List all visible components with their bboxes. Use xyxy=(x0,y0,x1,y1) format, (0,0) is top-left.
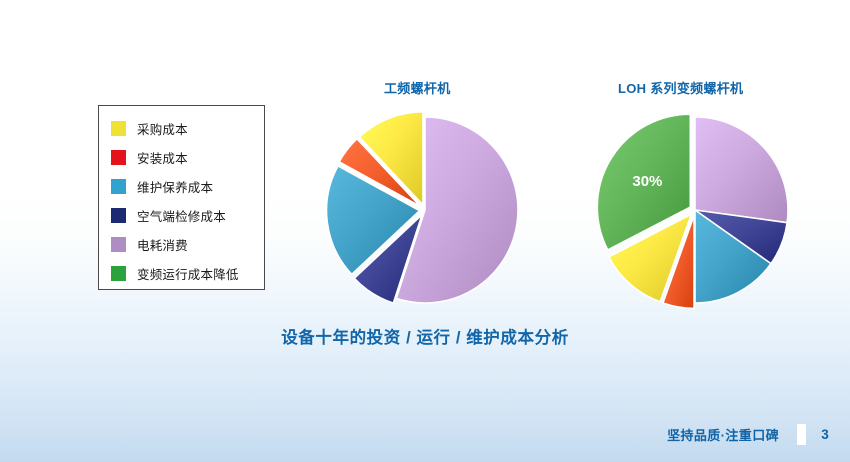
legend-swatch-icon xyxy=(111,237,126,252)
pie-slice xyxy=(695,117,788,223)
legend-swatch-icon xyxy=(111,179,126,194)
legend-item-5: 变频运行成本降低 xyxy=(111,259,264,288)
pie-chart-left xyxy=(318,103,532,317)
slide-canvas: 采购成本 安装成本 维护保养成本 空气端检修成本 电耗消费 变频运行成本降低 工… xyxy=(0,0,850,462)
legend-box: 采购成本 安装成本 维护保养成本 空气端检修成本 电耗消费 变频运行成本降低 xyxy=(98,105,265,290)
footer: 坚持品质·注重口碑 3 xyxy=(667,423,830,445)
legend-item-1: 安装成本 xyxy=(111,143,264,172)
legend-swatch-icon xyxy=(111,208,126,223)
legend-item-label: 空气端检修成本 xyxy=(137,206,226,225)
footer-divider xyxy=(797,424,806,445)
chart-title-left: 工频螺杆机 xyxy=(384,78,451,97)
legend-item-label: 维护保养成本 xyxy=(137,177,213,196)
footer-page-number: 3 xyxy=(820,427,830,442)
chart-title-right: LOH 系列变频螺杆机 xyxy=(618,78,743,97)
legend-swatch-icon xyxy=(111,150,126,165)
footer-slogan: 坚持品质·注重口碑 xyxy=(667,425,779,444)
legend-item-4: 电耗消费 xyxy=(111,230,264,259)
legend-item-label: 电耗消费 xyxy=(137,235,188,254)
legend-item-2: 维护保养成本 xyxy=(111,172,264,201)
legend-item-label: 安装成本 xyxy=(137,148,188,167)
pie-slice-data-label: 30% xyxy=(632,173,662,190)
legend-swatch-icon xyxy=(111,121,126,136)
legend-item-label: 变频运行成本降低 xyxy=(137,264,239,283)
legend-item-label: 采购成本 xyxy=(137,119,188,138)
legend-swatch-icon xyxy=(111,266,126,281)
legend-item-3: 空气端检修成本 xyxy=(111,201,264,230)
pie-chart-right: 30% xyxy=(588,103,802,317)
legend-item-0: 采购成本 xyxy=(111,114,264,143)
page-title: 设备十年的投资 / 运行 / 维护成本分析 xyxy=(0,324,850,348)
